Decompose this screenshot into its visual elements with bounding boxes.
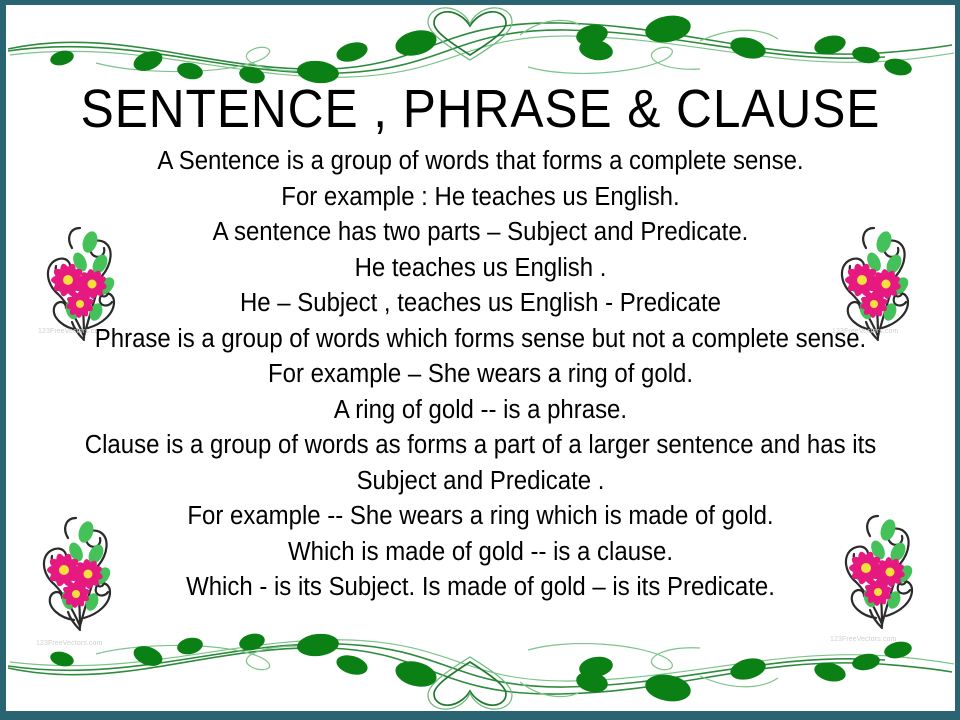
body-line: He – Subject , teaches us English - Pred… <box>34 286 926 322</box>
body-line: For example – She wears a ring of gold. <box>34 357 926 393</box>
vine-border-bottom-icon <box>0 632 960 714</box>
frame-border-bottom <box>0 711 960 720</box>
poster-content: SENTENCE , PHRASE & CLAUSE A Sentence is… <box>6 82 955 606</box>
body-line: For example -- She wears a ring which is… <box>34 499 926 535</box>
poster-canvas: 123FreeVectors.com 123FreeVectors.com 12… <box>0 0 960 720</box>
body-line: Phrase is a group of words which forms s… <box>34 322 926 358</box>
frame-border-right <box>955 0 960 720</box>
body-line: Which - is its Subject. Is made of gold … <box>34 570 926 606</box>
body-line: He teaches us English . <box>34 251 926 287</box>
body-line: A Sentence is a group of words that form… <box>34 144 926 180</box>
vine-border-top-icon <box>0 3 960 85</box>
body-line: Which is made of gold -- is a clause. <box>34 535 926 571</box>
frame-border-top <box>0 0 960 5</box>
watermark-bottom-left: 123FreeVectors.com <box>36 640 102 647</box>
body-line: Subject and Predicate . <box>34 464 926 500</box>
poster-body-text: A Sentence is a group of words that form… <box>6 144 955 606</box>
body-line: For example : He teaches us English. <box>34 180 926 216</box>
body-line: A ring of gold -- is a phrase. <box>34 393 926 429</box>
watermark-bottom-right: 123FreeVectors.com <box>830 636 896 643</box>
page-title: SENTENCE , PHRASE & CLAUSE <box>44 82 917 136</box>
body-line: Clause is a group of words as forms a pa… <box>34 428 926 464</box>
body-line: A sentence has two parts – Subject and P… <box>34 215 926 251</box>
